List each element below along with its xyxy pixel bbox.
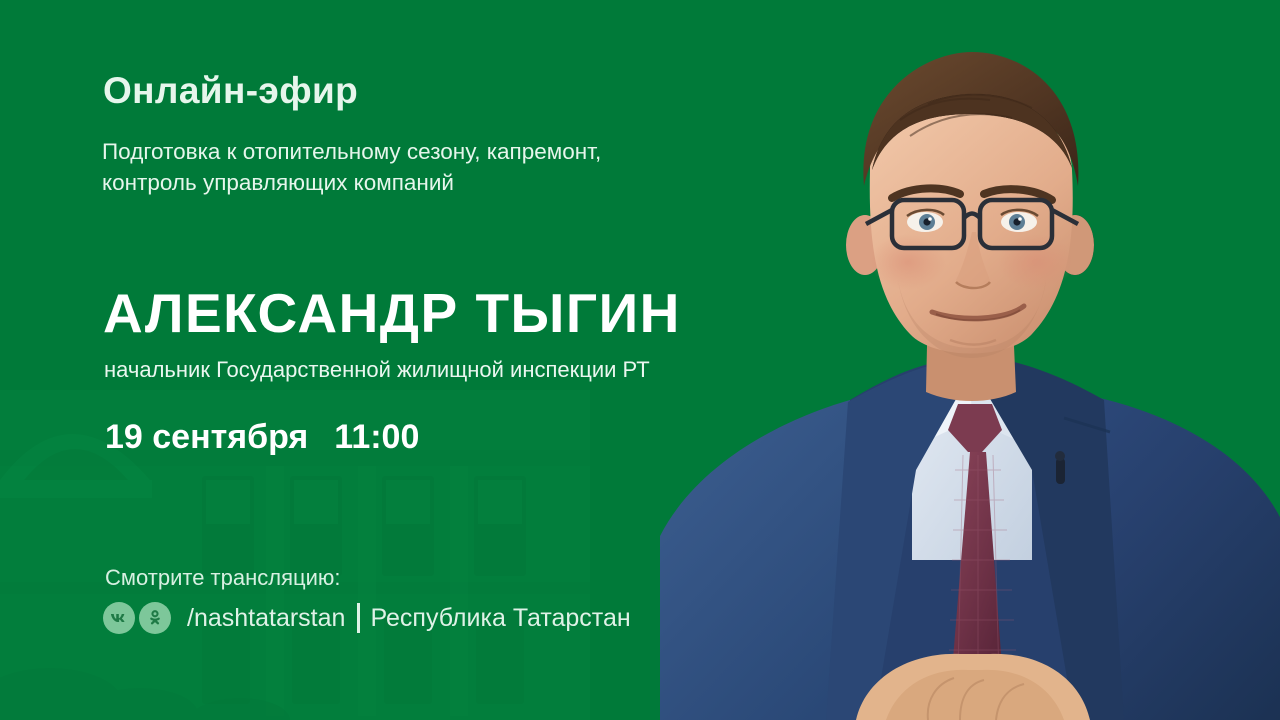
region-name: Республика Татарстан <box>370 604 630 633</box>
social-divider <box>357 603 360 633</box>
social-links-row: /nashtatarstan Республика Татарстан <box>103 602 631 634</box>
ok-icon[interactable] <box>139 602 171 634</box>
event-subtitle: Подготовка к отопительному сезону, капре… <box>102 136 822 198</box>
poster-text-column: Онлайн-эфир Подготовка к отопительному с… <box>103 0 803 720</box>
event-subtitle-line-2: контроль управляющих компаний <box>102 167 822 198</box>
event-subtitle-line-1: Подготовка к отопительному сезону, капре… <box>102 136 822 167</box>
page-title: Онлайн-эфир <box>103 70 358 112</box>
broadcast-announcement-poster: Онлайн-эфир Подготовка к отопительному с… <box>0 0 1280 720</box>
speaker-name: АЛЕКСАНДР ТЫГИН <box>103 281 681 345</box>
event-datetime: 19 сентября11:00 <box>105 418 419 457</box>
event-date: 19 сентября <box>105 418 308 456</box>
watch-broadcast-label: Смотрите трансляцию: <box>105 565 341 591</box>
event-time: 11:00 <box>334 418 419 456</box>
vk-icon[interactable] <box>103 602 135 634</box>
speaker-role: начальник Государственной жилищной инспе… <box>104 357 650 383</box>
social-handle[interactable]: /nashtatarstan <box>187 604 345 633</box>
